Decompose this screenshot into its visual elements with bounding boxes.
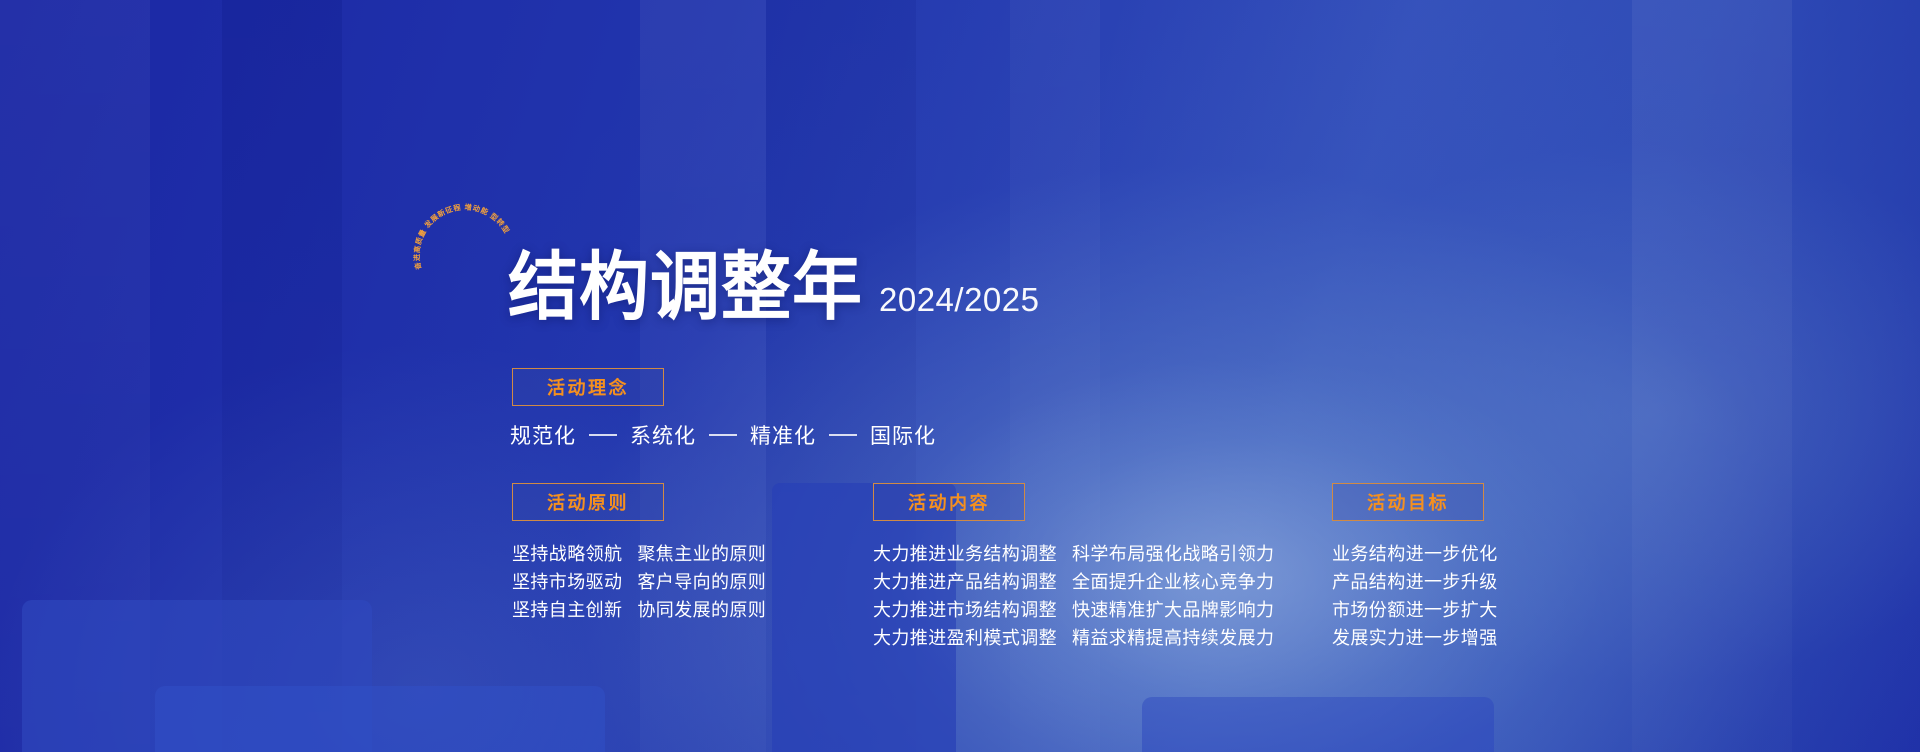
list-item: 市场份额进一步扩大 [1332, 601, 1498, 619]
list-item: 坚持自主创新 协同发展的原则 [512, 601, 766, 619]
content-value: 科学布局强化战略引领力 [1072, 545, 1274, 563]
philosophy-separator-icon [589, 434, 617, 436]
column-activity-goals: 活动目标 业务结构进一步优化 产品结构进一步升级 市场份额进一步扩大 发展实力进… [1332, 483, 1498, 657]
list-item: 大力推进市场结构调整 快速精准扩大品牌影响力 [873, 601, 1274, 619]
page-title: 结构调整年 [508, 250, 863, 324]
list-item: 发展实力进一步增强 [1332, 629, 1498, 647]
content-row-list: 大力推进业务结构调整 科学布局强化战略引领力 大力推进产品结构调整 全面提升企业… [873, 545, 1274, 647]
content-key: 大力推进盈利模式调整 [873, 629, 1057, 647]
arc-text-path: 奋进高质量 发展新征程 增动能 型转型 [412, 203, 511, 272]
arc-text-svg: 奋进高质量 发展新征程 增动能 型转型 [404, 140, 512, 320]
philosophy-separator-icon [709, 434, 737, 436]
content-key: 大力推进业务结构调整 [873, 545, 1057, 563]
column-activity-principles: 活动原则 坚持战略领航 聚焦主业的原则 坚持市场驱动 客户导向的原则 坚持自主创… [512, 483, 766, 629]
philosophy-item-1: 系统化 [630, 420, 696, 450]
arc-text: 奋进高质量 发展新征程 增动能 型转型 [412, 203, 511, 272]
content-value: 全面提升企业核心竞争力 [1072, 573, 1274, 591]
content-value: 精益求精提高持续发展力 [1072, 629, 1274, 647]
list-item: 坚持战略领航 聚焦主业的原则 [512, 545, 766, 563]
year-range-label: 2024/2025 [879, 281, 1040, 324]
philosophy-item-3: 国际化 [870, 420, 936, 450]
title-row: 结构调整年 2024/2025 [508, 254, 1040, 324]
tag-activity-principles[interactable]: 活动原则 [512, 483, 664, 521]
tag-activity-goals-label: 活动目标 [1367, 489, 1449, 515]
tag-activity-philosophy-label: 活动理念 [547, 374, 629, 400]
philosophy-item-2: 精准化 [750, 420, 816, 450]
list-item: 大力推进产品结构调整 全面提升企业核心竞争力 [873, 573, 1274, 591]
tag-activity-goals[interactable]: 活动目标 [1332, 483, 1484, 521]
circular-arc-emblem: 奋进高质量 发展新征程 增动能 型转型 [404, 140, 512, 320]
list-item: 坚持市场驱动 客户导向的原则 [512, 573, 766, 591]
tag-activity-principles-label: 活动原则 [547, 489, 629, 515]
content-key: 大力推进产品结构调整 [873, 573, 1057, 591]
goals-row-list: 业务结构进一步优化 产品结构进一步升级 市场份额进一步扩大 发展实力进一步增强 [1332, 545, 1498, 647]
list-item: 大力推进盈利模式调整 精益求精提高持续发展力 [873, 629, 1274, 647]
principle-key: 坚持市场驱动 [512, 573, 622, 591]
column-activity-content: 活动内容 大力推进业务结构调整 科学布局强化战略引领力 大力推进产品结构调整 全… [873, 483, 1274, 657]
tag-activity-content-label: 活动内容 [908, 489, 990, 515]
principle-key: 坚持自主创新 [512, 601, 622, 619]
list-item: 大力推进业务结构调整 科学布局强化战略引领力 [873, 545, 1274, 563]
list-item: 业务结构进一步优化 [1332, 545, 1498, 563]
philosophy-items-row: 规范化 系统化 精准化 国际化 [510, 420, 936, 450]
content-key: 大力推进市场结构调整 [873, 601, 1057, 619]
principle-key: 坚持战略领航 [512, 545, 622, 563]
philosophy-separator-icon [829, 434, 857, 436]
principle-value: 协同发展的原则 [637, 601, 766, 619]
principles-row-list: 坚持战略领航 聚焦主业的原则 坚持市场驱动 客户导向的原则 坚持自主创新 协同发… [512, 545, 766, 619]
tag-activity-content[interactable]: 活动内容 [873, 483, 1025, 521]
list-item: 产品结构进一步升级 [1332, 573, 1498, 591]
content-value: 快速精准扩大品牌影响力 [1072, 601, 1274, 619]
tag-activity-philosophy[interactable]: 活动理念 [512, 368, 664, 406]
principle-value: 聚焦主业的原则 [637, 545, 766, 563]
philosophy-item-0: 规范化 [510, 420, 576, 450]
principle-value: 客户导向的原则 [637, 573, 766, 591]
